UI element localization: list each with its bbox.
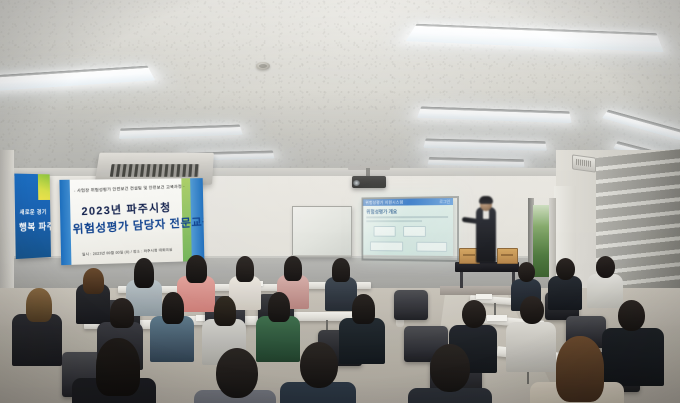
attendee-hair — [332, 258, 350, 282]
attendee-head — [518, 262, 535, 282]
attendee-hair — [96, 338, 140, 396]
podium-leg — [460, 272, 463, 288]
attendee-hair — [162, 292, 184, 324]
attendee-hair — [556, 336, 604, 402]
event-banner: - 사업장 위험성평가 안전보건 컨설팅 및 안전보건 교육과정 - 2023년… — [59, 178, 204, 265]
banner-left-stripe — [59, 180, 71, 265]
podium-wooden-box — [497, 248, 518, 264]
attendee-hair — [214, 296, 236, 326]
ac-vent-louvers — [110, 164, 200, 177]
attendee-hair — [26, 288, 52, 322]
attendee-hair — [110, 298, 134, 328]
chair[interactable] — [394, 290, 428, 320]
attendee-head — [216, 348, 258, 398]
attendee-torso — [602, 328, 664, 386]
presenter-hair — [479, 196, 493, 204]
attendee-head — [618, 300, 645, 331]
attendee-hair — [236, 256, 254, 282]
projection-screen-frame — [362, 196, 459, 262]
wall-whiteboard — [292, 206, 352, 258]
attendee-hair — [186, 255, 207, 283]
presenter-shirt — [483, 210, 489, 219]
banner-footer-text: 일시 : 2023년 00월 00일 (0) / 장소 : 파주시청 대회의실 — [75, 247, 179, 258]
desk-paper — [476, 294, 492, 299]
desk-paper — [487, 315, 507, 321]
wall-speaker-icon — [572, 154, 596, 172]
attendee-head — [556, 258, 575, 280]
classroom-photo: 위험성평가 지원시스템 로그인 위험성평가 개요 - 사업장 위험성평가 안전보… — [0, 0, 680, 403]
attendee-head — [462, 300, 486, 328]
vertical-banner-line-2: 행복 파주 — [19, 220, 48, 234]
vertical-banner-line-1: 새로운 경기 — [19, 208, 48, 216]
attendee-hair — [134, 258, 154, 288]
attendee-torso — [548, 276, 582, 310]
banner-subtitle-top: - 사업장 위험성평가 안전보건 컨설팅 및 안전보건 교육과정 - — [74, 184, 178, 194]
attendee-torso — [587, 274, 623, 308]
window-frame — [549, 198, 556, 282]
projector-lens-icon — [353, 180, 360, 186]
attendee-head — [300, 342, 338, 388]
attendee-torso — [256, 316, 300, 362]
attendee-hair — [284, 256, 302, 281]
attendee-torso — [506, 322, 556, 372]
attendee-torso — [339, 318, 385, 364]
window-view-foliage — [533, 205, 550, 277]
attendee-hair — [352, 294, 375, 324]
vertical-standing-banner: 새로운 경기 행복 파주 — [14, 174, 51, 260]
attendee-head — [520, 296, 544, 324]
vertical-banner-accent — [38, 174, 50, 200]
attendee-head — [596, 256, 615, 278]
attendee-hair — [268, 292, 290, 322]
attendee-hair — [83, 268, 104, 294]
attendee-head — [430, 344, 470, 392]
